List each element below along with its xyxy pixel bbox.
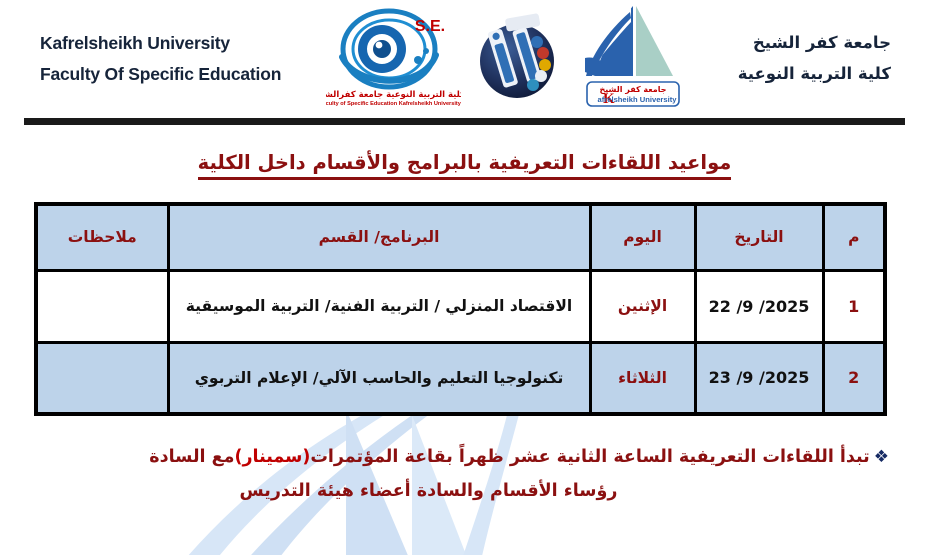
header-divider-rule	[24, 118, 905, 125]
table-header-row: م التاريخ اليوم البرنامج/ القسم ملاحظات	[36, 204, 885, 270]
logo-group: S.E. كلية التربية النوعية جامعة كفرالشيخ…	[326, 2, 693, 117]
page-title-text: مواعيد اللقاءات التعريفية بالبرامج والأق…	[198, 151, 732, 180]
cell-date-1: 22 /9 /2025	[695, 270, 823, 342]
cell-day-1: الإثنين	[590, 270, 695, 342]
cell-notes-2	[36, 342, 168, 414]
table-row: 1 22 /9 /2025 الإثنين الاقتصاد المنزلي /…	[36, 270, 885, 342]
university-name-english: Kafrelsheikh University Faculty Of Speci…	[28, 28, 281, 89]
letterhead: Kafrelsheikh University Faculty Of Speci…	[0, 0, 929, 118]
svg-text:كلية التربية النوعية جامعة كفر: كلية التربية النوعية جامعة كفرالشيخ	[326, 90, 461, 100]
header-cell-program: البرنامج/ القسم	[168, 204, 590, 270]
kafrelsheikh-university-sail-logo: جامعة كفر الشيخ K afrelsheikh University	[573, 2, 693, 117]
footer-note-line-2: رؤساء الأقسام والسادة أعضاء هيئة التدريس	[28, 474, 889, 508]
faculty-line-en: Faculty Of Specific Education	[40, 59, 281, 90]
document-page: Kafrelsheikh University Faculty Of Speci…	[0, 0, 929, 555]
schedule-table-container: م التاريخ اليوم البرنامج/ القسم ملاحظات …	[34, 202, 887, 416]
university-name-arabic: جامعة كفر الشيخ كلية التربية النوعية	[738, 28, 901, 89]
header-cell-notes: ملاحظات	[36, 204, 168, 270]
footer-note: ❖تبدأ اللقاءات التعريفية الساعة الثانية …	[28, 440, 889, 508]
schedule-table: م التاريخ اليوم البرنامج/ القسم ملاحظات …	[34, 202, 887, 416]
cell-num-2: 2	[823, 342, 885, 414]
it-unit-logo	[471, 5, 563, 114]
header-cell-num: م	[823, 204, 885, 270]
diamond-bullet-icon: ❖	[874, 447, 889, 467]
footer-note-line-1: ❖تبدأ اللقاءات التعريفية الساعة الثانية …	[28, 440, 889, 474]
cell-day-2: الثلاثاء	[590, 342, 695, 414]
footer-note-text-before: تبدأ اللقاءات التعريفية الساعة الثانية ع…	[310, 447, 869, 467]
cell-date-2: 23 /9 /2025	[695, 342, 823, 414]
cell-num-1: 1	[823, 270, 885, 342]
svg-text:afrelsheikh University: afrelsheikh University	[597, 95, 677, 104]
footer-note-seminar: (سمينار)	[234, 447, 310, 467]
faculty-line-ar: كلية التربية النوعية	[738, 59, 891, 90]
header-cell-date: التاريخ	[695, 204, 823, 270]
cell-program-2: تكنولوجيا التعليم والحاسب الآلي/ الإعلام…	[168, 342, 590, 414]
footer-note-text-after: مع السادة	[149, 447, 234, 467]
cell-notes-1	[36, 270, 168, 342]
header-cell-day: اليوم	[590, 204, 695, 270]
faculty-specific-education-logo: S.E. كلية التربية النوعية جامعة كفرالشيخ…	[326, 5, 461, 114]
university-line-en: Kafrelsheikh University	[40, 28, 281, 59]
table-row: 2 23 /9 /2025 الثلاثاء تكنولوجيا التعليم…	[36, 342, 885, 414]
page-title: مواعيد اللقاءات التعريفية بالبرامج والأق…	[0, 151, 929, 180]
svg-text:Faculty of Specific Education: Faculty of Specific Education Kafrelshei…	[326, 101, 461, 107]
svg-text:S.E.: S.E.	[415, 18, 445, 35]
cell-program-1: الاقتصاد المنزلي / التربية الفنية/ الترب…	[168, 270, 590, 342]
university-line-ar: جامعة كفر الشيخ	[738, 28, 891, 59]
